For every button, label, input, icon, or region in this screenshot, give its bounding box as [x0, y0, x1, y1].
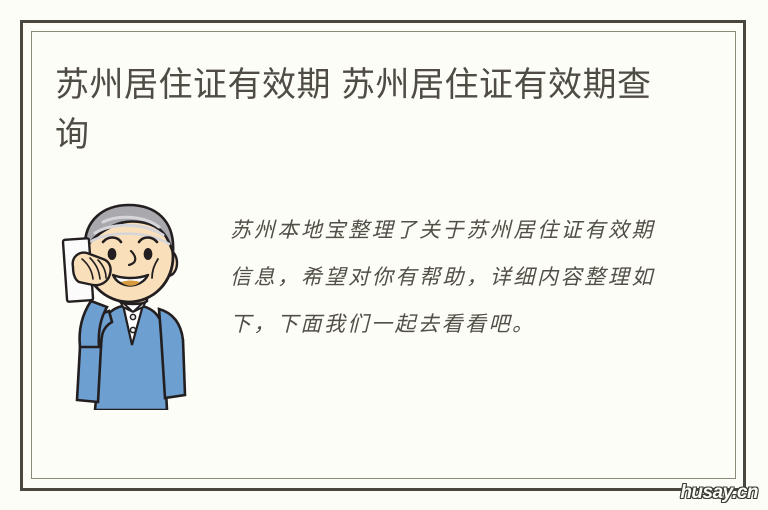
eye-left — [108, 248, 117, 260]
page-title: 苏州居住证有效期 苏州居住证有效期查询 — [55, 60, 675, 160]
elderly-man-on-phone-illustration — [55, 195, 210, 410]
sweater-right-sleeve — [159, 309, 185, 398]
article-body-text: 苏州本地宝整理了关于苏州居住证有效期信息，希望对你有帮助，详细内容整理如下，下面… — [230, 207, 655, 348]
site-watermark: husay.cn — [680, 482, 758, 504]
shirt-button-1 — [130, 314, 135, 319]
page-root: 苏州居住证有效期 苏州居住证有效期查询 — [0, 0, 768, 510]
shirt-button-2 — [130, 327, 135, 332]
illustration-svg — [55, 195, 210, 410]
eye-right — [144, 248, 153, 260]
article-content-row: 苏州本地宝整理了关于苏州居住证有效期信息，希望对你有帮助，详细内容整理如下，下面… — [55, 195, 695, 415]
